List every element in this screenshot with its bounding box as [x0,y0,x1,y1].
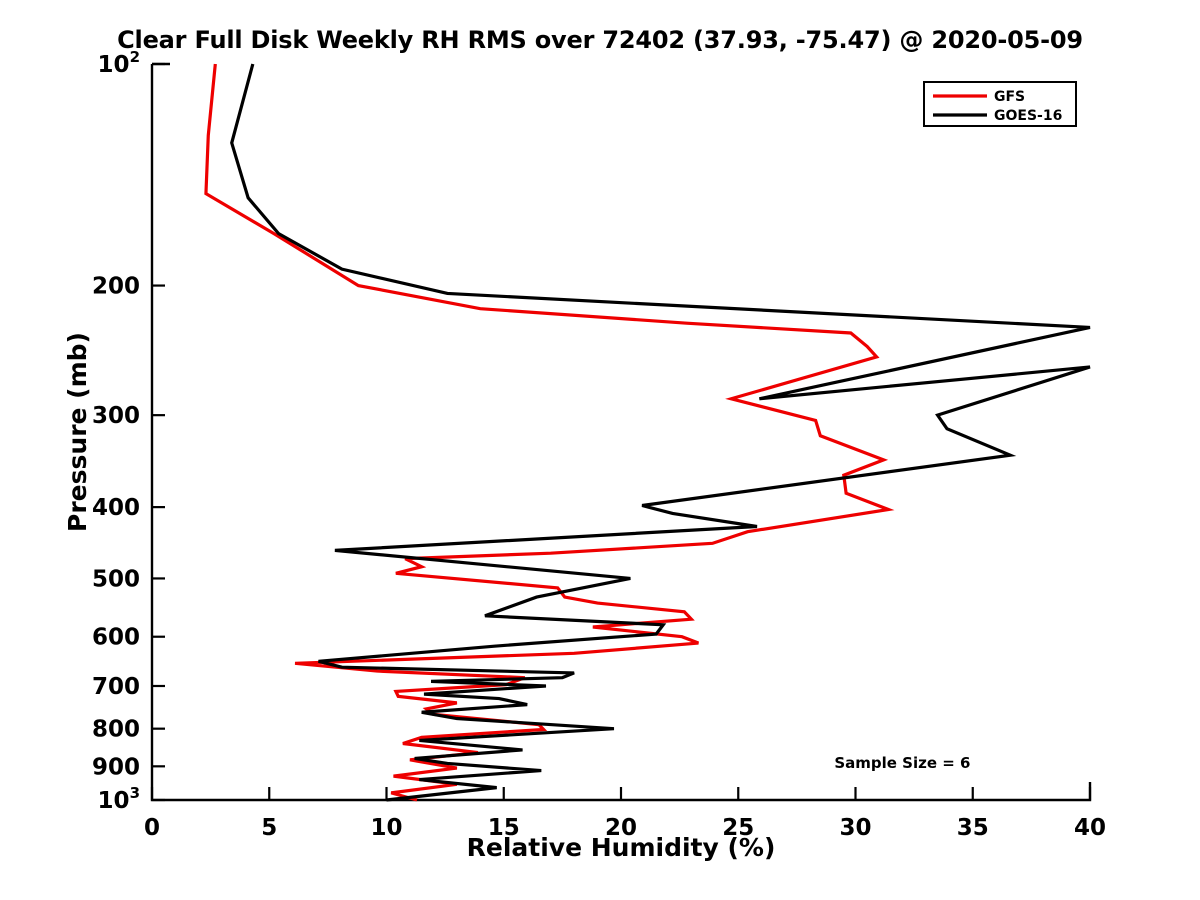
x-tick-label: 10 [370,815,402,841]
y-axis-ticks [152,64,165,800]
sample-size-annotation: Sample Size = 6 [834,754,970,772]
axis-frame [152,64,1090,800]
y-tick-label: 600 [92,625,140,651]
x-tick-label: 0 [144,815,160,841]
x-axis-title: Relative Humidity (%) [467,833,776,862]
x-tick-label: 40 [1074,815,1106,841]
relative-humidity-profile-chart: 0510152025303540 10220030040050060070080… [0,0,1200,900]
y-tick-label: 800 [92,717,140,743]
x-tick-label: 30 [839,815,871,841]
legend-label-gfs[interactable]: GFS [994,89,1025,105]
y-tick-label: 500 [92,566,140,592]
y-tick-label: 103 [98,784,140,814]
chart-page: Clear Full Disk Weekly RH RMS over 72402… [0,0,1200,900]
data-series-group [206,64,1090,800]
x-tick-label: 5 [261,815,277,841]
legend-label-goes-16[interactable]: GOES-16 [994,108,1062,124]
y-tick-label: 700 [92,674,140,700]
y-tick-label: 400 [92,495,140,521]
y-tick-label: 200 [92,274,140,300]
y-tick-label: 900 [92,754,140,780]
y-tick-label: 300 [92,403,140,429]
y-axis-tick-labels: 102200300400500600700800900103 [92,48,140,814]
legend[interactable]: GFSGOES-16 [924,82,1076,126]
y-axis-title: Pressure (mb) [63,332,92,532]
annotations-group: Sample Size = 6 [834,754,970,772]
y-tick-label: 102 [98,48,140,78]
series-line-gfs [206,64,888,800]
x-tick-label: 35 [957,815,989,841]
x-axis-ticks [152,787,1090,800]
series-line-goes-16 [232,64,1090,800]
